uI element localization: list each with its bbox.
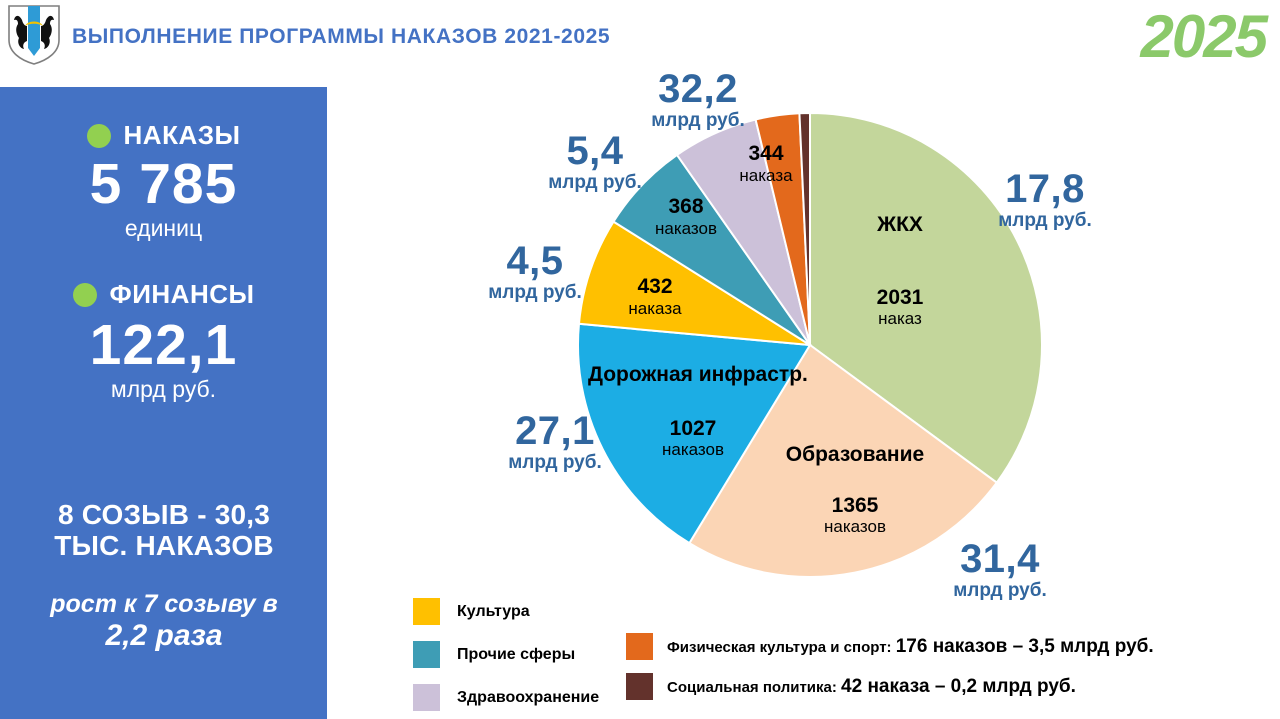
legend-prefix: Социальная политика: (667, 679, 841, 696)
stat-value: 5 785 (0, 155, 327, 215)
legend-swatch-zdravo (413, 684, 440, 711)
slice-count: 432 (608, 275, 702, 299)
callout-money-zhkh: 17,8 млрд руб. (960, 168, 1130, 231)
callout-money-obrazovanie: 31,4 млрд руб. (915, 538, 1085, 601)
slice-name: ЖКХ (835, 213, 965, 237)
legend-label: Социальная политика: 42 наказа – 0,2 млр… (667, 676, 1076, 698)
callout-value: 27,1 (470, 410, 640, 452)
slice-count: 344 (718, 142, 814, 166)
legend-item-zdravo: Здравоохранение (413, 684, 599, 711)
callout-money-prochie: 5,4 млрд руб. (510, 130, 680, 193)
legend-swatch-sport (626, 633, 653, 660)
stat-value: 122,1 (0, 316, 327, 376)
legend-value: 42 наказа – 0,2 млрд руб. (841, 676, 1076, 697)
callout-value: 17,8 (960, 168, 1130, 210)
year-badge: 2025 (1141, 2, 1266, 71)
legend-secondary: Физическая культура и спорт: 176 наказов… (626, 633, 1154, 713)
legend-item-kultura: Культура (413, 598, 599, 625)
callout-value: 32,2 (608, 68, 788, 110)
legend-item-socpolitika: Социальная политика: 42 наказа – 0,2 млр… (626, 673, 1154, 700)
callout-value: 5,4 (510, 130, 680, 172)
callout-money-zdravo: 32,2 млрд руб. (608, 68, 788, 131)
convocation-line-1: 8 СОЗЫВ - 30,3 (14, 499, 314, 530)
callout-unit: млрд руб. (915, 581, 1085, 601)
slice-label-zdravo: 344 наказа (718, 142, 814, 185)
slice-unit: наказов (760, 517, 950, 536)
slice-unit: наказа (608, 299, 702, 318)
stat-block-finansy: ФИНАНСЫ 122,1 млрд руб. (0, 279, 327, 403)
stat-label: ФИНАНСЫ (110, 279, 255, 310)
stat-unit: единиц (0, 215, 327, 243)
callout-unit: млрд руб. (608, 111, 788, 131)
callout-value: 31,4 (915, 538, 1085, 580)
convocation-line-2: ТЫС. НАКАЗОВ (14, 530, 314, 561)
slice-name: Дорожная инфрастр. (588, 363, 798, 387)
slice-count: 1365 (760, 494, 950, 518)
stat-header: НАКАЗЫ (0, 120, 327, 151)
convocation-note: 8 СОЗЫВ - 30,3 ТЫС. НАКАЗОВ (14, 499, 314, 562)
legend-primary: Культура Прочие сферы Здравоохранение (413, 598, 599, 719)
novosibirsk-oblast-coat-of-arms-icon (6, 4, 62, 66)
slice-count: 368 (634, 195, 738, 219)
callout-money-doroga: 27,1 млрд руб. (470, 410, 640, 473)
page-title: ВЫПОЛНЕНИЕ ПРОГРАММЫ НАКАЗОВ 2021-2025 (72, 25, 610, 49)
stat-block-nakazy: НАКАЗЫ 5 785 единиц (0, 120, 327, 242)
callout-unit: млрд руб. (470, 453, 640, 473)
legend-item-prochie: Прочие сферы (413, 641, 599, 668)
legend-label: Культура (457, 603, 530, 621)
legend-label: Физическая культура и спорт: 176 наказов… (667, 636, 1154, 658)
legend-value: 176 наказов – 3,5 млрд руб. (896, 636, 1154, 657)
stat-header: ФИНАНСЫ (0, 279, 327, 310)
growth-line-1: рост к 7 созыву в (16, 590, 312, 619)
legend-item-sport: Физическая культура и спорт: 176 наказов… (626, 633, 1154, 660)
slice-label-zhkh: ЖКХ 2031 наказ (835, 213, 965, 328)
infographic-slide: ВЫПОЛНЕНИЕ ПРОГРАММЫ НАКАЗОВ 2021-2025 2… (0, 0, 1280, 719)
slice-unit: наказа (718, 166, 814, 185)
summary-sidebar: НАКАЗЫ 5 785 единиц ФИНАНСЫ 122,1 млрд р… (0, 87, 327, 719)
callout-money-kultura: 4,5 млрд руб. (450, 240, 620, 303)
growth-line-2: 2,2 раза (16, 619, 312, 654)
slice-count: 2031 (835, 286, 965, 310)
legend-prefix: Физическая культура и спорт: (667, 639, 896, 656)
stat-label: НАКАЗЫ (124, 120, 241, 151)
callout-unit: млрд руб. (450, 283, 620, 303)
legend-swatch-socpolitika (626, 673, 653, 700)
slice-label-kultura: 432 наказа (608, 275, 702, 318)
legend-label: Здравоохранение (457, 689, 599, 707)
legend-label: Прочие сферы (457, 646, 575, 664)
legend-swatch-kultura (413, 598, 440, 625)
slice-label-prochie: 368 наказов (634, 195, 738, 238)
slice-unit: наказов (634, 219, 738, 238)
bullet-icon (73, 283, 97, 307)
bullet-icon (87, 124, 111, 148)
stat-unit: млрд руб. (0, 376, 327, 404)
callout-value: 4,5 (450, 240, 620, 282)
legend-swatch-prochie (413, 641, 440, 668)
callout-unit: млрд руб. (510, 173, 680, 193)
slice-unit: наказ (835, 309, 965, 328)
callout-unit: млрд руб. (960, 211, 1130, 231)
growth-note: рост к 7 созыву в 2,2 раза (16, 590, 312, 653)
